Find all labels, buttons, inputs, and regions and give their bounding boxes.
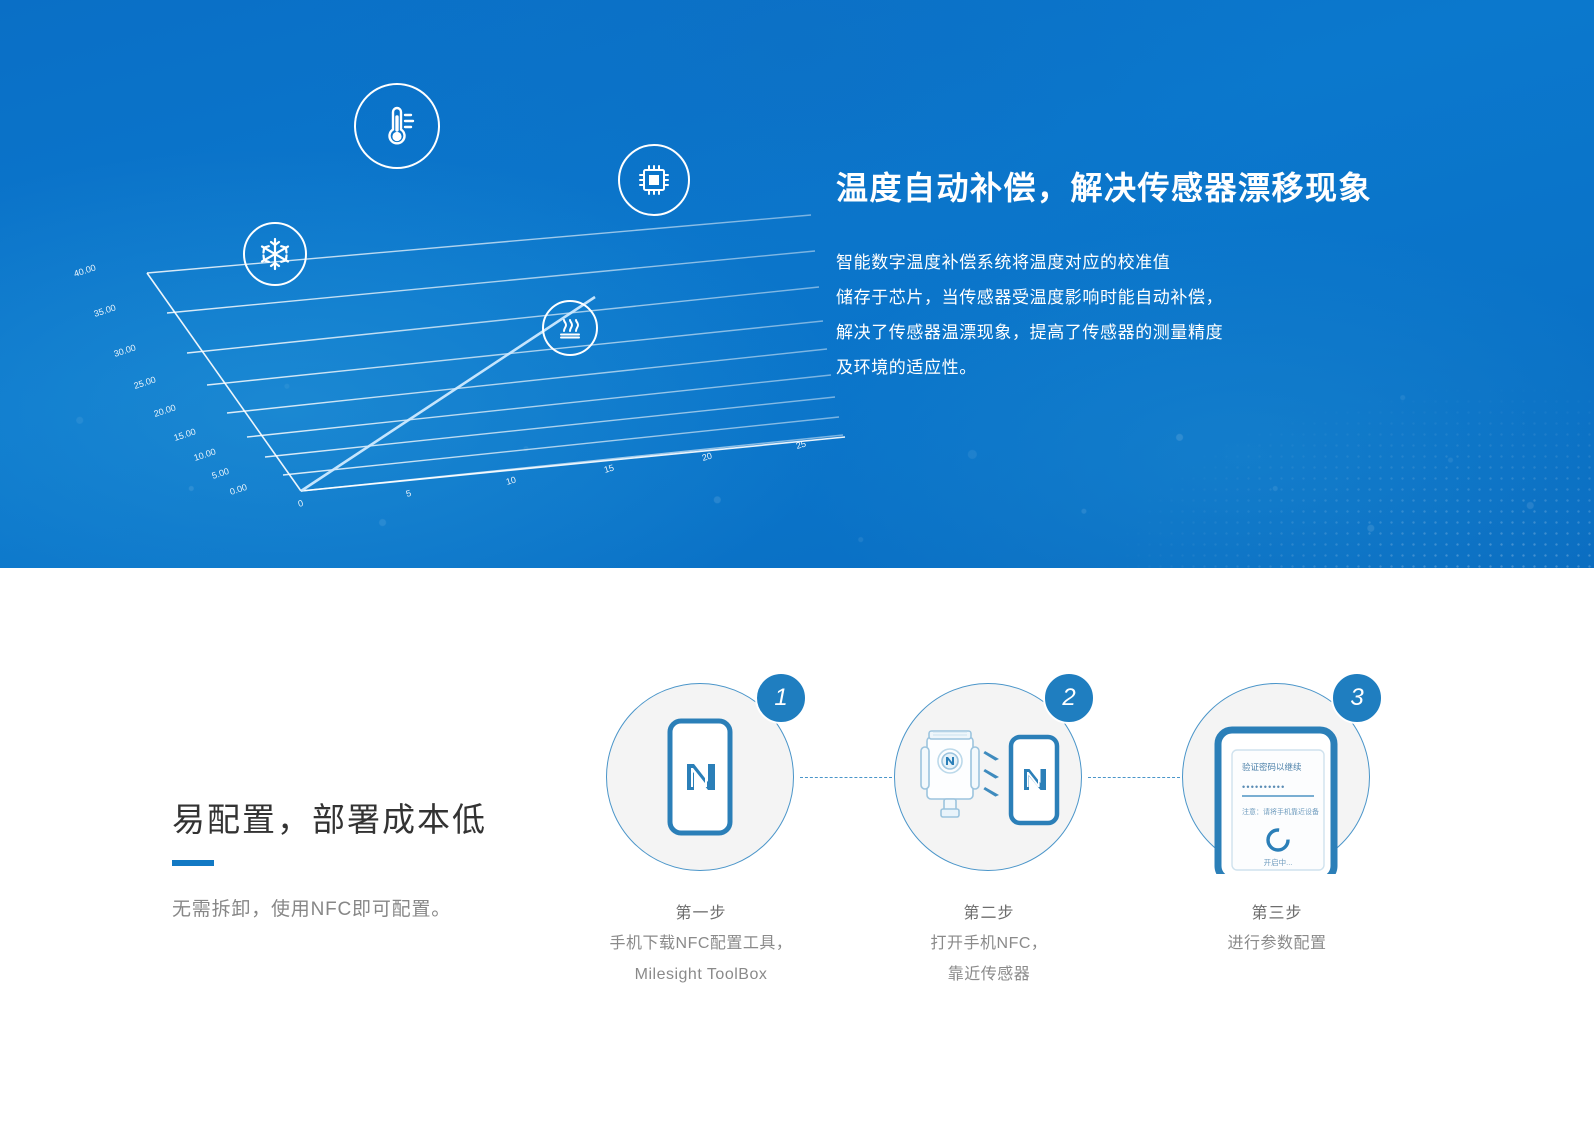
step-3-label: 第三步 [1182, 899, 1372, 929]
x-tick: 0 [297, 498, 305, 509]
x-tick: 5 [405, 488, 413, 499]
step-3-caption: 第三步 进行参数配置 [1182, 899, 1372, 960]
step-2-badge: 2 [1043, 672, 1095, 724]
hero-copy-block: 温度自动补偿，解决传感器漂移现象 智能数字温度补偿系统将温度对应的校准值 储存于… [836, 168, 1436, 385]
y-tick: 15.00 [173, 426, 198, 442]
step-1-circle: 1 [606, 683, 794, 871]
phone-config-dialog-icon: 验证密码以继续 •••••••••• 注意：请将手机靠近设备 开启中... [1212, 724, 1340, 874]
sensor-device-glyph [921, 731, 979, 817]
heat-waves-glyph [555, 313, 585, 343]
dialog-heading: 验证密码以继续 [1242, 762, 1302, 772]
y-tick: 20.00 [153, 402, 178, 418]
step-3-circle: 3 验证密码以继续 •••••••••• 注意：请将手机靠近设备 开启中... [1182, 683, 1370, 871]
hero-title: 温度自动补偿，解决传感器漂移现象 [836, 168, 1436, 208]
chart-axes [147, 273, 845, 491]
chart-svg: 40.00 35.00 30.00 25.00 20.00 15.00 10.0… [55, 185, 815, 505]
dialog-status: 开启中... [1264, 857, 1293, 867]
nfc-configuration-section: 易配置，部署成本低 无需拆卸，使用NFC即可配置。 1 [0, 568, 1594, 1146]
y-tick: 40.00 [73, 262, 98, 278]
step-connector-2-3 [1088, 777, 1180, 778]
y-tick: 25.00 [133, 374, 158, 390]
y-tick: 0.00 [229, 482, 249, 497]
y-tick: 35.00 [93, 302, 118, 318]
title-accent-rule [172, 860, 214, 866]
step-1-desc-line: Milesight ToolBox [606, 960, 796, 990]
hero-body-text: 智能数字温度补偿系统将温度对应的校准值 储存于芯片，当传感器受温度影响时能自动补… [836, 246, 1436, 385]
dialog-note: 注意：请将手机靠近设备 [1242, 807, 1319, 816]
step-2-circle: 2 [894, 683, 1082, 871]
section-title: 易配置，部署成本低 [172, 800, 592, 840]
temperature-compensation-chart: 40.00 35.00 30.00 25.00 20.00 15.00 10.0… [55, 185, 815, 505]
heat-waves-icon [542, 300, 598, 356]
step-2: 2 [894, 683, 1084, 990]
hero-section: 40.00 35.00 30.00 25.00 20.00 15.00 10.0… [0, 0, 1594, 568]
sensor-phone-nfc-icon [913, 717, 1063, 837]
dialog-password-mask: •••••••••• [1242, 782, 1286, 792]
step-2-caption: 第二步 打开手机NFC， 靠近传感器 [894, 899, 1084, 990]
phone-nfc-icon [667, 718, 733, 836]
cpu-chip-icon [618, 144, 690, 216]
snowflake-glyph [258, 237, 292, 271]
lower-copy-block: 易配置，部署成本低 无需拆卸，使用NFC即可配置。 [172, 800, 592, 921]
nfc-signal-arrows [983, 751, 999, 797]
page-root: 40.00 35.00 30.00 25.00 20.00 15.00 10.0… [0, 0, 1594, 1146]
x-tick: 10 [505, 475, 517, 487]
x-tick: 20 [701, 451, 713, 463]
hero-body-line: 及环境的适应性。 [836, 351, 1436, 386]
step-3-badge: 3 [1331, 672, 1383, 724]
x-tick: 15 [603, 463, 615, 475]
step-1: 1 第一步 手机下载NFC配置工具， Milesight ToolBox [606, 683, 796, 990]
step-2-desc-line: 打开手机NFC， [894, 929, 1084, 959]
step-2-label: 第二步 [894, 899, 1084, 929]
step-3-desc-line: 进行参数配置 [1182, 929, 1372, 959]
step-1-caption: 第一步 手机下载NFC配置工具， Milesight ToolBox [606, 899, 796, 990]
hero-body-line: 解决了传感器温漂现象，提高了传感器的测量精度 [836, 316, 1436, 351]
hero-body-line: 储存于芯片，当传感器受温度影响时能自动补偿， [836, 281, 1436, 316]
thermometer-icon [354, 83, 440, 169]
step-1-label: 第一步 [606, 899, 796, 929]
hero-body-line: 智能数字温度补偿系统将温度对应的校准值 [836, 246, 1436, 281]
step-2-desc-line: 靠近传感器 [894, 960, 1084, 990]
y-tick: 10.00 [193, 446, 218, 462]
step-connector-1-2 [800, 777, 892, 778]
cpu-chip-glyph [635, 161, 673, 199]
section-subtitle: 无需拆卸，使用NFC即可配置。 [172, 894, 592, 921]
step-1-desc-line: 手机下载NFC配置工具， [606, 929, 796, 959]
step-3: 3 验证密码以继续 •••••••••• 注意：请将手机靠近设备 开启中... … [1182, 683, 1372, 960]
y-tick: 5.00 [211, 466, 231, 481]
thermometer-glyph [374, 103, 420, 149]
snowflake-icon [243, 222, 307, 286]
steps-container: 1 第一步 手机下载NFC配置工具， Milesight ToolBox [600, 683, 1400, 1013]
y-tick: 30.00 [113, 342, 138, 358]
step-1-badge: 1 [755, 672, 807, 724]
